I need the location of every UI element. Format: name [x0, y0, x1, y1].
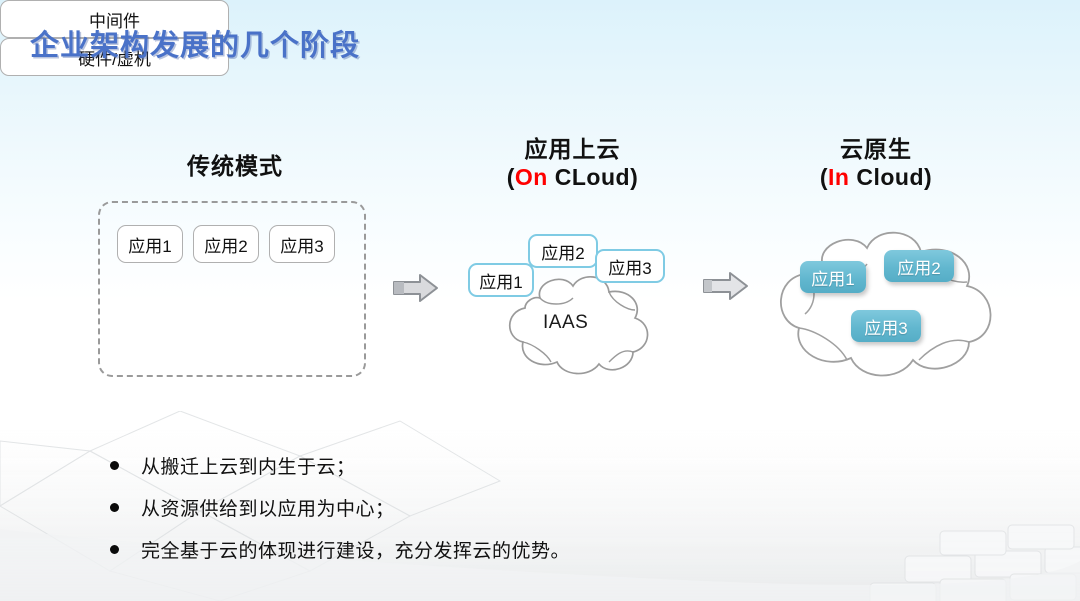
slide-canvas: 企业架构发展的几个阶段 传统模式 应用1 应用2 应用3 中间件 硬件/虚机 应…: [0, 0, 1080, 601]
right-arrow-icon-2: [702, 270, 750, 302]
page-title: 企业架构发展的几个阶段: [30, 22, 360, 64]
bullet-item-2: 从资源供给到以应用为中心；: [110, 494, 810, 521]
on-cloud-app-2[interactable]: 应用2: [528, 234, 598, 268]
stage-heading-cloud-native-en: (In Cloud): [745, 163, 1007, 191]
stage-heading-cloud-native: 云原生 (In Cloud): [745, 135, 1007, 191]
on-cloud-rest: CLoud): [548, 164, 638, 190]
cloud-native-cloud-shape: [765, 218, 1007, 382]
stage-heading-traditional: 传统模式: [100, 152, 370, 180]
cloud-native-rest: Cloud): [849, 164, 932, 190]
bullet-item-1: 从搬迁上云到内生于云；: [110, 452, 810, 479]
stage-heading-traditional-text: 传统模式: [100, 152, 370, 180]
right-arrow-icon-1: [392, 272, 440, 304]
traditional-app-1[interactable]: 应用1: [117, 225, 183, 263]
on-cloud-app-3[interactable]: 应用3: [595, 249, 665, 283]
traditional-app-3[interactable]: 应用3: [269, 225, 335, 263]
bullet-dot-icon: [110, 461, 119, 470]
cloud-native-highlight: In: [828, 164, 849, 190]
traditional-app-2[interactable]: 应用2: [193, 225, 259, 263]
traditional-app-row: 应用1 应用2 应用3: [117, 225, 335, 263]
iaas-cloud-label: IAAS: [543, 312, 588, 334]
bullet-list: 从搬迁上云到内生于云； 从资源供给到以应用为中心； 完全基于云的体现进行建设，充…: [110, 452, 810, 578]
bullet-text-1: 从搬迁上云到内生于云；: [141, 452, 356, 479]
bullet-dot-icon: [110, 503, 119, 512]
on-cloud-app-1[interactable]: 应用1: [468, 263, 534, 297]
bullet-text-3: 完全基于云的体现进行建设，充分发挥云的优势。: [141, 536, 570, 563]
stage-heading-on-cloud-cn: 应用上云: [440, 135, 705, 163]
stage-heading-cloud-native-cn: 云原生: [745, 135, 1007, 163]
bullet-text-2: 从资源供给到以应用为中心；: [141, 494, 395, 521]
cloud-native-paren-open: (: [820, 164, 828, 190]
bullet-dot-icon: [110, 545, 119, 554]
cloud-native-app-1[interactable]: 应用1: [800, 261, 866, 293]
stage-heading-on-cloud: 应用上云 (On CLoud): [440, 135, 705, 191]
on-cloud-highlight: On: [515, 164, 548, 190]
stage-heading-on-cloud-en: (On CLoud): [440, 163, 705, 191]
cloud-native-app-3[interactable]: 应用3: [851, 310, 921, 342]
cloud-native-app-2[interactable]: 应用2: [884, 250, 954, 282]
on-cloud-paren-open: (: [507, 164, 515, 190]
bullet-item-3: 完全基于云的体现进行建设，充分发挥云的优势。: [110, 536, 810, 563]
